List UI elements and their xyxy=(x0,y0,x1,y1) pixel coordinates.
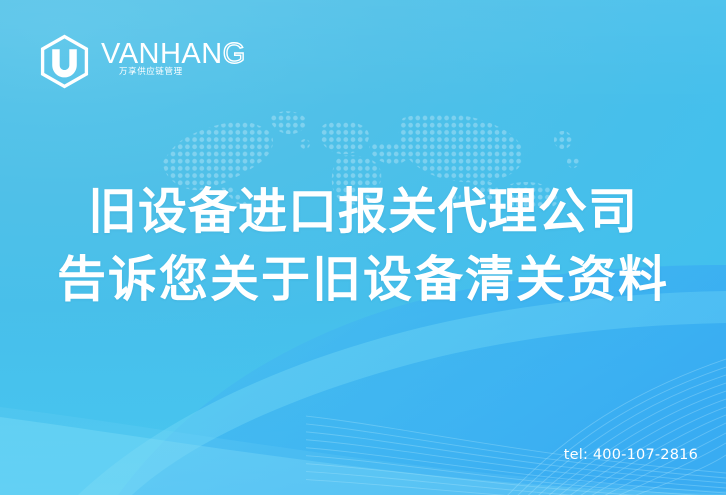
logo-wordmark-g: G xyxy=(223,38,246,70)
promo-banner: VANHANG 万享供应链管理 旧设备进口报关代理公司 告诉您关于旧设备清关资料… xyxy=(0,0,726,495)
line-texture-decoration xyxy=(306,305,726,495)
headline: 旧设备进口报关代理公司 告诉您关于旧设备清关资料 xyxy=(0,178,726,314)
company-logo[interactable]: VANHANG 万享供应链管理 xyxy=(37,34,219,88)
headline-line-1: 旧设备进口报关代理公司 xyxy=(0,178,726,246)
dotted-world-map-icon xyxy=(155,100,585,208)
hexagon-u-logo-icon xyxy=(37,34,92,89)
logo-wordmark: VANHANG 万享供应链管理 xyxy=(101,38,219,84)
contact-telephone[interactable]: tel: 400-107-2816 xyxy=(564,447,698,463)
logo-subtitle: 万享供应链管理 xyxy=(119,65,183,77)
headline-line-2: 告诉您关于旧设备清关资料 xyxy=(0,246,726,314)
